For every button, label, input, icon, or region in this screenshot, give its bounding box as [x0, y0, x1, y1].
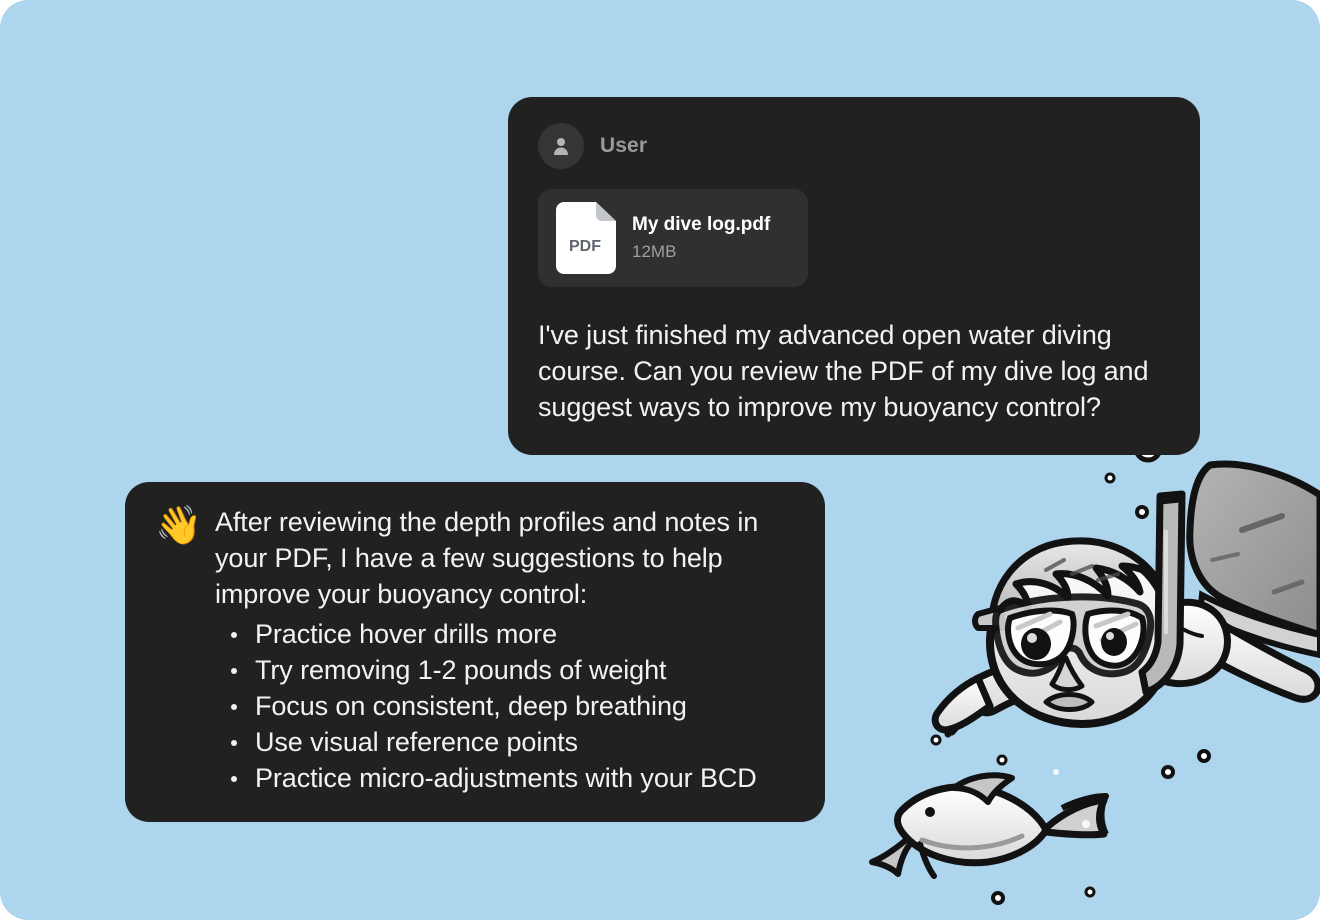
suggestion-list: Practice hover drills more Try removing …	[215, 616, 795, 796]
list-item: Practice micro-adjustments with your BCD	[215, 760, 795, 796]
chat-conversation: User PDF My dive log.pdf 12MB I've just …	[0, 0, 1320, 920]
list-item: Focus on consistent, deep breathing	[215, 688, 795, 724]
svg-text:PDF: PDF	[569, 238, 601, 255]
sender-name: User	[600, 134, 647, 158]
assistant-message-body: After reviewing the depth profiles and n…	[215, 504, 795, 796]
attachment-file-name: My dive log.pdf	[632, 213, 770, 237]
page-root: User PDF My dive log.pdf 12MB I've just …	[0, 0, 1320, 920]
pdf-file-icon: PDF	[556, 202, 616, 274]
pdf-attachment-card[interactable]: PDF My dive log.pdf 12MB	[538, 189, 808, 287]
list-item: Use visual reference points	[215, 724, 795, 760]
assistant-message-bubble: 👋 After reviewing the depth profiles and…	[125, 482, 825, 822]
list-item: Practice hover drills more	[215, 616, 795, 652]
attachment-file-size: 12MB	[632, 240, 770, 263]
assistant-intro-text: After reviewing the depth profiles and n…	[215, 504, 795, 612]
person-avatar-icon	[538, 123, 584, 169]
waving-hand-icon: 👋	[155, 504, 201, 548]
user-message-text: I've just finished my advanced open wate…	[538, 317, 1170, 425]
attachment-text: My dive log.pdf 12MB	[632, 213, 770, 263]
assistant-message-row: 👋 After reviewing the depth profiles and…	[155, 504, 795, 796]
user-message-header: User	[538, 123, 1170, 169]
list-item: Try removing 1-2 pounds of weight	[215, 652, 795, 688]
user-message-bubble: User PDF My dive log.pdf 12MB I've just …	[508, 97, 1200, 455]
